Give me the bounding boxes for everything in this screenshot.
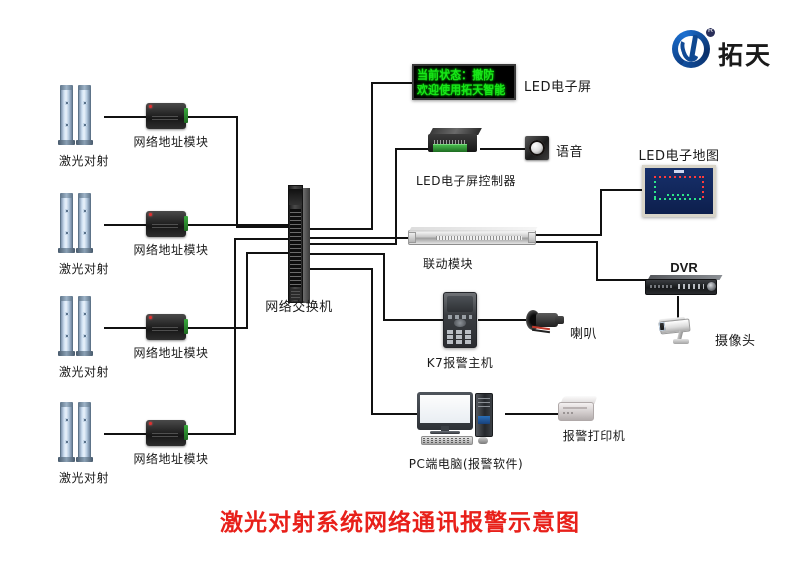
wire-module3-bus (186, 327, 248, 329)
wire-linkage-ledmap-h2 (600, 189, 642, 191)
wire-switch-ledscreen-v (371, 82, 373, 230)
led-screen-controller (428, 128, 480, 154)
k7-host-label: K7报警主机 (427, 354, 494, 371)
module-label-3: 网络地址模块 (133, 344, 208, 361)
wire-linkage-ledmap-v (600, 189, 602, 236)
laser-label-4: 激光对射 (59, 469, 109, 486)
linkage-module-label: 联动模块 (423, 255, 473, 272)
laser-label-1: 激光对射 (59, 152, 109, 169)
linkage-module (408, 227, 536, 249)
led-line-1: 当前状态：撤防 (417, 68, 503, 83)
led-screen-label: LED电子屏 (524, 76, 591, 95)
wire-module2-switch (186, 224, 290, 226)
wire-ledctrl-voice (480, 148, 525, 150)
alarm-printer (558, 396, 598, 424)
wire-switch-k7-h1 (305, 253, 385, 255)
wire-switch-ledctrl-v (395, 148, 397, 245)
wire-linkage-dvr-h1 (536, 241, 598, 243)
wire-laser4-module4 (104, 433, 146, 435)
k7-alarm-host (443, 292, 477, 348)
wire-laser2-module2 (104, 224, 146, 226)
wire-bus3-vertical (246, 252, 248, 329)
module-label-2: 网络地址模块 (133, 241, 208, 258)
module-label-1: 网络地址模块 (133, 133, 208, 150)
surveillance-camera (658, 318, 700, 348)
logo-text: 拓天 (718, 36, 772, 72)
wire-linkage-dvr-v (596, 241, 598, 281)
brand-logo: 拓天 (672, 28, 792, 70)
wire-switch-k7-v (383, 253, 385, 321)
laser-label-2: 激光对射 (59, 260, 109, 277)
laser-detector-2 (58, 192, 104, 254)
wire-linkage-ledmap-h1 (536, 234, 602, 236)
module-label-4: 网络地址模块 (133, 450, 208, 467)
diagram-canvas: 拓天 (0, 0, 800, 579)
laser-detector-3 (58, 295, 104, 357)
wire-bus4-switch (234, 238, 290, 240)
wire-laser3-module3 (104, 327, 146, 329)
laser-detector-4 (58, 401, 104, 463)
network-address-module-2 (146, 211, 186, 237)
led-map-label: LED电子地图 (639, 145, 720, 164)
switch-label: 网络交换机 (265, 296, 333, 315)
wire-switch-ledscreen-h1 (305, 228, 373, 230)
led-display-screen: 当前状态：撤防 欢迎使用拓天智能 (412, 64, 516, 100)
dvr-label: DVR (670, 260, 697, 275)
laser-label-3: 激光对射 (59, 363, 109, 380)
voice-label: 语音 (556, 141, 583, 160)
wire-module4-bus (186, 433, 236, 435)
network-address-module-4 (146, 420, 186, 446)
registered-trademark-icon (706, 28, 715, 37)
logo-mark-icon (672, 30, 710, 68)
wire-switch-ledscreen-h2 (371, 82, 413, 84)
pc-workstation (417, 392, 503, 446)
laser-detector-1 (58, 84, 104, 146)
horn-label: 喇叭 (570, 323, 597, 342)
network-switch (288, 185, 310, 303)
led-electronic-map (642, 165, 716, 217)
network-address-module-3 (146, 314, 186, 340)
wire-module1-bus (186, 116, 238, 118)
wire-switch-pc-h1 (305, 268, 373, 270)
wire-switch-linkage (305, 237, 410, 239)
network-address-module-1 (146, 103, 186, 129)
wire-bus4-vertical (234, 238, 236, 435)
pc-label: PC端电脑(报警软件) (409, 455, 523, 472)
wire-switch-pc-v (371, 268, 373, 415)
alarm-horn-speaker (526, 308, 566, 334)
wire-switch-ledctrl-h1 (305, 243, 397, 245)
wire-switch-ledctrl-h2 (395, 148, 429, 150)
camera-label: 摄像头 (715, 330, 756, 349)
wire-linkage-dvr-h2 (596, 279, 648, 281)
dvr-recorder (645, 275, 721, 297)
led-line-2: 欢迎使用拓天智能 (417, 83, 503, 98)
wire-switch-k7-h2 (383, 319, 443, 321)
wire-laser1-module1 (104, 116, 146, 118)
wire-pc-printer (505, 413, 558, 415)
printer-label: 报警打印机 (563, 427, 626, 444)
voice-speaker-device (525, 136, 549, 160)
wire-bus3-switch (246, 252, 290, 254)
wire-switch-pc-h2 (371, 413, 417, 415)
wire-bus1-switch (236, 226, 290, 228)
led-controller-label: LED电子屏控制器 (416, 172, 516, 189)
wire-k7-horn (478, 319, 526, 321)
diagram-title: 激光对射系统网络通讯报警示意图 (220, 503, 580, 537)
wire-bus1-vertical (236, 116, 238, 228)
